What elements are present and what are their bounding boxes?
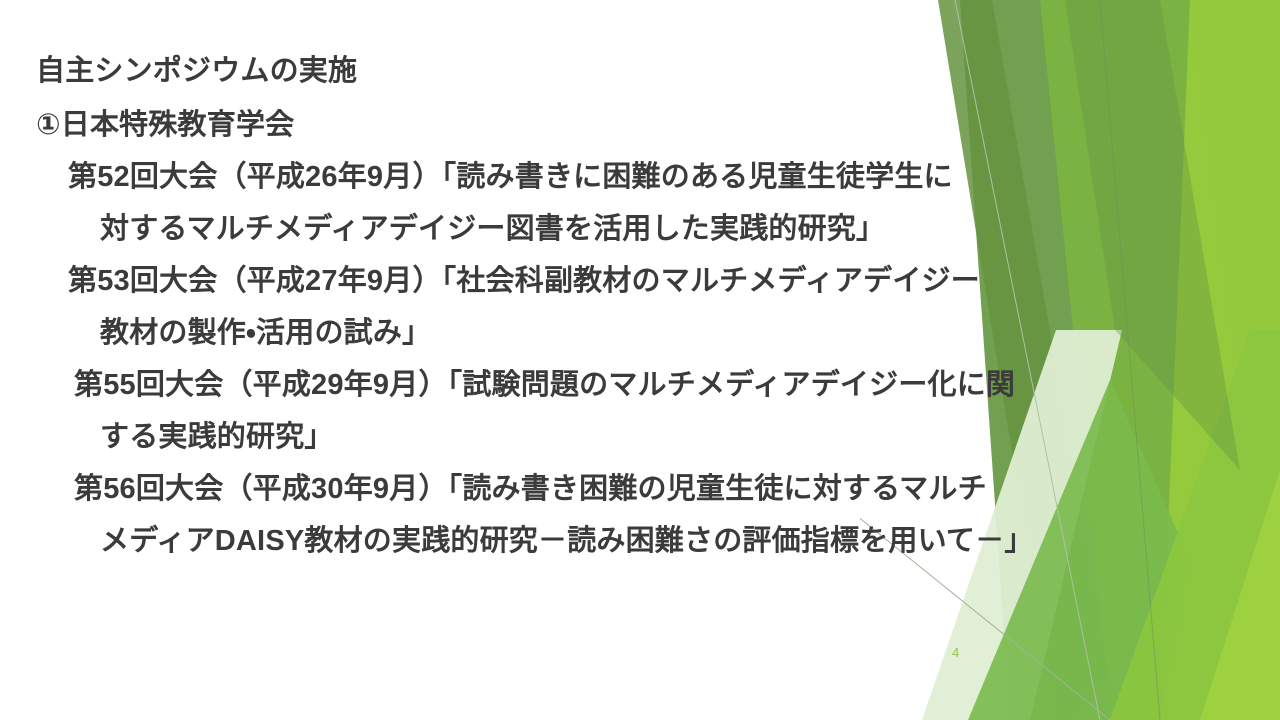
body-line-4: 教材の製作・活用の試み」 [100, 307, 1180, 359]
slide-canvas: 自主シンポジウムの実施 ①日本特殊教育学会 第52回大会（平成26年9月）「読み… [0, 0, 1280, 720]
body-line-1: 第52回大会（平成26年9月）「読み書きに困難のある児童生徒学生に [68, 151, 1180, 203]
slide-title: 自主シンポジウムの実施 [36, 44, 1180, 99]
decor-shape-lime-sliver [1200, 470, 1280, 720]
body-line-7: 第56回大会（平成30年9月）「読み書き困難の児童生徒に対するマルチ [74, 463, 1180, 515]
body-line-3: 第53回大会（平成27年9月）「社会科副教材のマルチメディアデイジー [68, 255, 1180, 307]
body-line-5: 第55回大会（平成29年9月）「試験問題のマルチメディアデイジー化に関 [74, 359, 1180, 411]
body-line-6: する実践的研究」 [100, 411, 1180, 463]
section-heading: ①日本特殊教育学会 [36, 99, 1180, 151]
slide-text-body: 自主シンポジウムの実施 ①日本特殊教育学会 第52回大会（平成26年9月）「読み… [0, 0, 1180, 567]
body-line-8: メディアDAISY教材の実践的研究－読み困難さの評価指標を用いて－」 [100, 515, 1180, 567]
slide-number: 4 [952, 645, 959, 660]
body-line-2: 対するマルチメディアデイジー図書を活用した実践的研究」 [100, 203, 1180, 255]
